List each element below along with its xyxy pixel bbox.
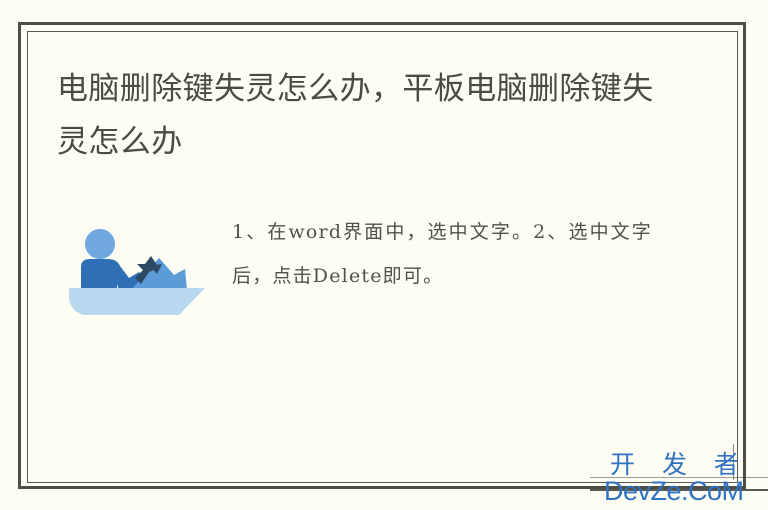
watermark-site-name: DevZe.CoM bbox=[604, 476, 744, 506]
article-body-text: 1、在word界面中，选中文字。2、选中文字后，点击Delete即可。 bbox=[232, 210, 652, 298]
watermark-chinese-text: 开 发 者 bbox=[610, 452, 749, 479]
person-in-boat-illustration bbox=[67, 222, 207, 322]
article-body-area: 1、在word界面中，选中文字。2、选中文字后，点击Delete即可。 bbox=[57, 210, 697, 350]
page-title: 电脑删除键失灵怎么办，平板电脑删除键失灵怎么办 bbox=[57, 62, 657, 168]
card-content: 电脑删除键失灵怎么办，平板电脑删除键失灵怎么办 bbox=[0, 0, 768, 510]
site-watermark: 开 发 者 DevZe.CoM bbox=[604, 452, 768, 508]
article-card-page: 电脑删除键失灵怎么办，平板电脑删除键失灵怎么办 bbox=[0, 0, 768, 510]
